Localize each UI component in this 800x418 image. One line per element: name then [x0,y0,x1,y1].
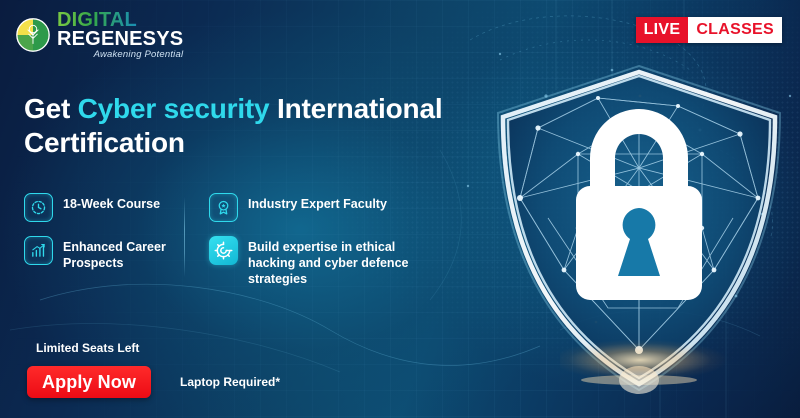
feature-item-career-prospects: Enhanced Career Prospects [24,236,184,271]
feature-column-right: Industry Expert Faculty Build expertise … [185,193,445,287]
logo-tagline: Awakening Potential [57,50,183,60]
logo-title-line1: DIGITAL [57,10,183,30]
limited-seats-note: Limited Seats Left [36,341,139,355]
clock-icon [24,193,53,222]
badge-live-label: LIVE [636,17,689,43]
feature-item-expert-faculty: Industry Expert Faculty [209,193,445,222]
tree-circle-logo-icon [16,18,50,52]
feature-item-ethical-hacking: Build expertise in ethical hacking and c… [209,236,445,287]
feature-label: Enhanced Career Prospects [63,236,184,271]
badge-classes-label: CLASSES [688,17,782,43]
feature-label: Industry Expert Faculty [248,193,387,212]
cyber-security-promo-banner: DIGITAL REGENESYS Awakening Potential LI… [0,0,800,418]
headline-part1: Get [24,93,78,124]
shield-network-icon [478,58,800,398]
brand-logo[interactable]: DIGITAL REGENESYS Awakening Potential [16,10,183,60]
gear-icon [209,236,238,265]
headline-highlight: Cyber security [78,93,270,124]
feature-column-left: 18-Week Course Enhanced Career Prospects [24,193,184,287]
logo-title-line2: REGENESYS [57,29,183,49]
apply-now-button[interactable]: Apply Now [27,366,151,398]
feature-label: Build expertise in ethical hacking and c… [248,236,445,287]
live-classes-badge: LIVE CLASSES [636,17,782,43]
award-badge-icon [209,193,238,222]
page-title: Get Cyber security International Certifi… [24,92,464,161]
bar-chart-growth-icon [24,236,53,265]
feature-label: 18-Week Course [63,193,160,212]
laptop-required-note: Laptop Required* [180,375,280,389]
feature-item-course-duration: 18-Week Course [24,193,184,222]
feature-list: 18-Week Course Enhanced Career Prospects [24,193,445,287]
